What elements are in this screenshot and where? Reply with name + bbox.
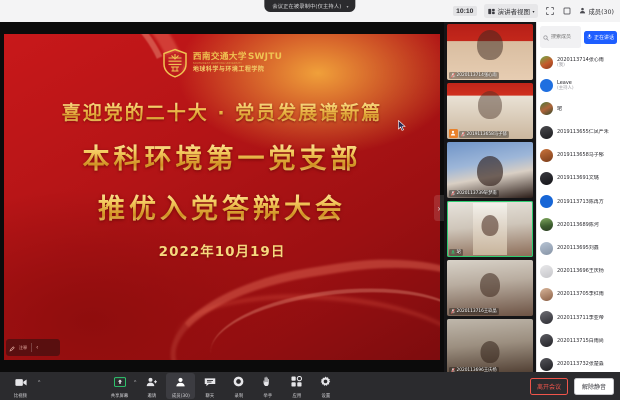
university-logo: 西南交通大学 SWJTU SOUTHWEST JIAOTONG UNIVERSI… [4,48,440,78]
toolbar-members-label: 成员(30) [172,393,190,399]
toolbar-invite-button[interactable]: 邀请 [137,373,166,400]
university-name-en: SWJTU [248,53,282,62]
pen-icon[interactable] [9,339,15,357]
speaking-badge [449,129,458,138]
participant-name: 2019113655仁凤严禾 [557,129,609,135]
members-icon [175,374,186,392]
avatar [540,311,553,324]
participants-panel: 正在讲话 2020113714张心雨(我) Leave(主持人) 珺 20191… [536,22,620,372]
annotation-label: 注释 [19,345,27,351]
annotation-toolbar[interactable]: 注释 ‹ [6,339,60,356]
raise-hand-icon [263,374,272,392]
participant-name: 2020113705李红雨 [557,291,604,297]
video-tile-name: 2020113739轩梦南 [457,190,497,196]
toolbar-raise-hand-button[interactable]: 举手 [253,373,282,400]
mic-muted-icon [451,309,455,314]
slide-title-line-2: 推优入党答辩大会 [4,187,440,226]
participant-name: 珺 [557,106,562,112]
avatar [540,265,553,278]
toolbar-raise-hand-label: 举手 [263,393,272,399]
participant-row[interactable]: 2020113732张楚淼 [540,352,617,372]
mic-muted-icon [451,73,455,78]
mic-muted-icon [461,132,465,137]
decorative-swirl [171,285,440,360]
record-icon [233,374,244,392]
video-tile-name: 2020113716王玖晶 [457,308,497,314]
participant-name: 2020113711李亚帝 [557,315,604,321]
participant-row[interactable]: 2020113714张心雨(我) [540,51,617,74]
video-tile[interactable]: 2020113739轩梦南 [447,142,533,198]
video-tile-name: 珺 [457,249,461,255]
avatar [540,358,553,371]
slide-title-line-1: 本科环境第一党支部 [4,137,440,176]
speaking-indicator-button[interactable]: 正在讲话 [584,31,617,44]
chevron-down-icon: ▾ [532,9,534,14]
bottom-toolbar: 比视频 ^ 共享屏幕 ^ 邀请 成员(30) 聊天 [0,372,620,400]
toolbar-share-screen-label: 共享屏幕 [111,393,129,399]
participant-name: 2020113696王庆杨 [557,268,604,274]
view-mode-label: 演讲者视图 [497,6,530,16]
layout-icon [488,8,495,15]
share-screen-icon [114,374,126,392]
toolbar-chat-button[interactable]: 聊天 [195,373,224,400]
mic-muted-icon [451,191,455,196]
toolbar-share-screen-button[interactable]: 共享屏幕 [105,373,134,400]
person-icon [579,7,586,16]
participant-row[interactable]: 2020113696王庆杨 [540,260,617,283]
slide-subtitle: 喜迎党的二十大 · 党员发展谱新篇 [4,98,440,125]
department-name: 地球科学与环境工程学院 [193,67,282,73]
participant-row[interactable]: 2020113695刘鑫 [540,237,617,260]
toolbar-members-button[interactable]: 成员(30) [166,373,195,399]
avatar [540,288,553,301]
invite-icon [146,374,158,392]
fullscreen-icon[interactable] [545,6,555,16]
divider [31,343,32,352]
avatar [540,149,553,162]
video-tile-active[interactable]: 珺 [447,201,533,257]
toolbar-invite-label: 邀请 [147,393,156,399]
university-name-cn: 西南交通大学 [193,53,247,62]
participant-row[interactable]: 2020113689陈河 [540,213,617,236]
avatar [540,102,553,115]
collapse-left-icon[interactable]: ‹ [36,345,38,351]
toolbar-chat-label: 聊天 [205,393,214,399]
chevron-up-icon[interactable]: ^ [38,380,40,386]
participant-row[interactable]: 2019113713陈再方 [540,190,617,213]
avatar [540,79,553,92]
next-slide-button[interactable]: › [434,195,444,221]
toolbar-record-label: 录制 [234,393,243,399]
university-crest-icon [162,48,188,78]
video-camera-icon [15,374,27,392]
presentation-slide: 西南交通大学 SWJTU SOUTHWEST JIAOTONG UNIVERSI… [4,34,440,360]
slide-date: 2022年10月19日 [4,240,440,260]
participant-tag: (我) [557,63,604,69]
participant-name: 2020113715白雨尚 [557,338,604,344]
avatar [540,218,553,231]
chat-icon [204,374,216,392]
toolbar-settings-button[interactable]: 设置 [311,373,340,400]
participant-row[interactable]: 2020113705李红雨 [540,283,617,306]
participant-row[interactable]: 2020113715白雨尚 [540,329,617,352]
avatar [540,242,553,255]
participant-row[interactable]: 珺 [540,97,617,120]
video-tile[interactable]: 2020113716王玖晶 [447,260,533,316]
participant-row[interactable]: 2019113655仁凤严禾 [540,121,617,144]
participant-name: 2019113713陈再方 [557,199,604,205]
participant-name: 2019113658马子郁 [557,152,604,158]
unmute-button[interactable]: 解除静音 [574,378,614,395]
toolbar-apps-button[interactable]: 应用 [282,373,311,400]
participants-panel-header: 正在讲话 [537,22,620,51]
participant-row[interactable]: 2019113691文璐 [540,167,617,190]
toolbar-record-button[interactable]: 录制 [224,373,253,400]
search-input[interactable] [551,34,578,40]
university-name-en-full: SOUTHWEST JIAOTONG UNIVERSITY [193,63,282,66]
participants-list: 2020113714张心雨(我) Leave(主持人) 珺 2019113655… [537,51,620,372]
participant-name: 2020113695刘鑫 [557,245,599,251]
recording-notice-label: 会议正在被录制中(仅主持人) [272,3,341,10]
recording-notice[interactable]: 会议正在被录制中(仅主持人) ▾ [264,0,355,12]
video-thumbnail-strip[interactable]: 2020113714张心雨 2019113658马子郁 2020113739轩梦… [444,22,536,372]
video-tile-name: 2020113714张心雨 [457,72,497,78]
participant-row[interactable]: Leave(主持人) [540,74,617,97]
chevron-up-icon[interactable]: ^ [134,380,136,386]
speaking-indicator-label: 正在讲话 [594,34,614,41]
avatar [540,126,553,139]
toolbar-video-label: 比视频 [14,393,27,399]
participant-row[interactable]: 2020113711李亚帝 [540,306,617,329]
avatar [540,56,553,69]
gear-icon [320,374,331,392]
avatar [540,334,553,347]
shared-screen-stage: 西南交通大学 SWJTU SOUTHWEST JIAOTONG UNIVERSI… [0,22,444,372]
search-members-box[interactable] [540,26,581,48]
participant-name: 2019113691文璐 [557,175,599,181]
mic-active-icon [451,250,455,255]
decorative-swirl [205,277,440,360]
avatar [540,195,553,208]
leave-meeting-button[interactable]: 离开会议 [530,378,568,395]
mic-icon [587,34,592,41]
members-count-button[interactable]: 成员(30) [579,7,614,16]
toolbar-apps-label: 应用 [292,393,301,399]
search-icon [543,28,549,46]
mouse-cursor-icon [398,118,406,136]
view-mode-selector[interactable]: 演讲者视图 ▾ [484,4,539,18]
toolbar-video-button[interactable]: 比视频 [6,373,35,400]
avatar [540,172,553,185]
participant-name: 2020113732张楚淼 [557,361,604,367]
video-tile-name: 2019113658马子郁 [467,131,507,137]
video-tile[interactable]: 2019113658马子郁 [447,83,533,139]
participant-name: 2020113689陈河 [557,222,599,228]
video-tile[interactable]: 2020113714张心雨 [447,24,533,80]
members-count-label: 成员(30) [588,7,614,16]
chevron-down-icon: ▾ [346,4,348,9]
video-tile[interactable]: 2020113696王庆杨 [447,319,533,372]
apps-icon [291,374,302,392]
minimize-icon[interactable] [562,6,572,16]
participant-tag: (主持人) [557,86,574,92]
meeting-clock: 10:10 [453,6,477,16]
participant-row[interactable]: 2019113658马子郁 [540,144,617,167]
toolbar-settings-label: 设置 [321,393,330,399]
